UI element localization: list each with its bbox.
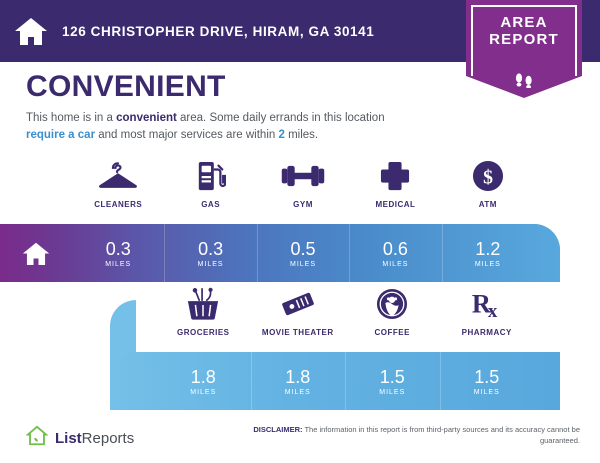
value-row-bottom: 1.8 MILES 1.8 MILES 1.5 MILES 1.5 MILES	[156, 352, 534, 410]
distance-value: 1.8	[191, 367, 216, 387]
value-row-top: 0.3 MILES 0.3 MILES 0.5 MILES 0.6 MILES …	[72, 224, 534, 282]
coffee-siren-icon	[376, 286, 408, 322]
value-cleaners: 0.3 MILES	[72, 224, 164, 282]
value-coffee: 1.5 MILES	[345, 352, 440, 410]
category-movie-theater: MOVIE THEATER	[251, 286, 346, 337]
distance-value: 1.2	[475, 239, 500, 259]
distance-value: 0.5	[291, 239, 316, 259]
value-atm: 1.2 MILES	[442, 224, 534, 282]
icon-row-top: CLEANERS GAS	[72, 158, 534, 209]
subtitle-highlight-require-a-car: require a car	[26, 129, 95, 141]
distance-value: 1.5	[474, 367, 499, 387]
disclaimer-text: The information in this report is from t…	[303, 425, 581, 445]
logo-reports: Reports	[82, 430, 135, 447]
icon-row-bottom: GROCERIES MOVIE THEATER	[156, 286, 534, 337]
category-groceries: GROCERIES	[156, 286, 251, 337]
property-address: 126 CHRISTOPHER DRIVE, HIRAM, GA 30141	[62, 24, 374, 39]
distance-value: 1.8	[285, 367, 310, 387]
distance-unit: MILES	[382, 261, 408, 268]
distance-unit: MILES	[198, 261, 224, 268]
category-label: GROCERIES	[177, 328, 230, 337]
distance-unit: MILES	[475, 261, 501, 268]
category-coffee: COFFEE	[345, 286, 440, 337]
bar-home-icon	[0, 224, 72, 282]
category-pharmacy: R x PHARMACY	[440, 286, 535, 337]
hanger-icon	[98, 158, 138, 194]
footprints-icon	[466, 72, 582, 93]
distance-unit: MILES	[290, 261, 316, 268]
value-gym: 0.5 MILES	[257, 224, 349, 282]
distance-value: 1.5	[380, 367, 405, 387]
distance-unit: MILES	[285, 389, 311, 396]
category-label: GAS	[201, 200, 220, 209]
badge-label: AREA REPORT	[466, 14, 582, 48]
distance-value: 0.3	[198, 239, 223, 259]
value-groceries: 1.8 MILES	[156, 352, 251, 410]
disclaimer-label: DISCLAIMER:	[253, 425, 302, 434]
distance-unit: MILES	[105, 261, 131, 268]
svg-text:$: $	[483, 167, 493, 189]
dollar-circle-icon: $	[472, 158, 504, 194]
home-icon	[0, 0, 62, 62]
distance-value: 0.3	[106, 239, 131, 259]
dumbbell-icon	[281, 158, 325, 194]
category-atm: $ ATM	[442, 158, 534, 209]
subtitle-highlight-convenient: convenient	[116, 112, 177, 124]
subtitle-part-3: and most major services are within	[95, 129, 278, 141]
listreports-logo: ListReports	[26, 425, 134, 452]
page-title: CONVENIENT	[26, 70, 226, 104]
distance-unit: MILES	[190, 389, 216, 396]
shopping-basket-icon	[186, 286, 220, 322]
value-movie-theater: 1.8 MILES	[251, 352, 346, 410]
listreports-wordmark: ListReports	[55, 430, 134, 447]
category-gym: GYM	[257, 158, 349, 209]
category-medical: MEDICAL	[349, 158, 441, 209]
subtitle-part-4: miles.	[285, 129, 318, 141]
listreports-house-icon	[26, 425, 48, 452]
subtitle-part-1: This home is in a	[26, 112, 116, 124]
category-label: PHARMACY	[462, 328, 512, 337]
medical-cross-icon	[380, 158, 410, 194]
category-cleaners: CLEANERS	[72, 158, 164, 209]
category-label: MOVIE THEATER	[262, 328, 334, 337]
page-subtitle: This home is in a convenient area. Some …	[26, 110, 426, 144]
svg-text:x: x	[488, 301, 498, 320]
gas-pump-icon	[196, 158, 226, 194]
badge-line-2: REPORT	[466, 31, 582, 48]
value-medical: 0.6 MILES	[349, 224, 441, 282]
category-label: GYM	[293, 200, 313, 209]
rx-icon: R x	[470, 286, 504, 322]
category-label: MEDICAL	[375, 200, 415, 209]
disclaimer: DISCLAIMER: The information in this repo…	[250, 424, 580, 446]
category-label: CLEANERS	[94, 200, 142, 209]
subtitle-part-2: area. Some daily errands in this locatio…	[177, 112, 385, 124]
category-label: COFFEE	[375, 328, 410, 337]
badge-line-1: AREA	[466, 14, 582, 31]
category-gas: GAS	[164, 158, 256, 209]
distance-unit: MILES	[474, 389, 500, 396]
logo-list: List	[55, 430, 82, 447]
movie-ticket-icon	[280, 286, 316, 322]
category-label: ATM	[479, 200, 497, 209]
distance-value: 0.6	[383, 239, 408, 259]
area-report-page: 126 CHRISTOPHER DRIVE, HIRAM, GA 30141 A…	[0, 0, 600, 463]
distance-unit: MILES	[379, 389, 405, 396]
value-gas: 0.3 MILES	[164, 224, 256, 282]
value-pharmacy: 1.5 MILES	[440, 352, 535, 410]
